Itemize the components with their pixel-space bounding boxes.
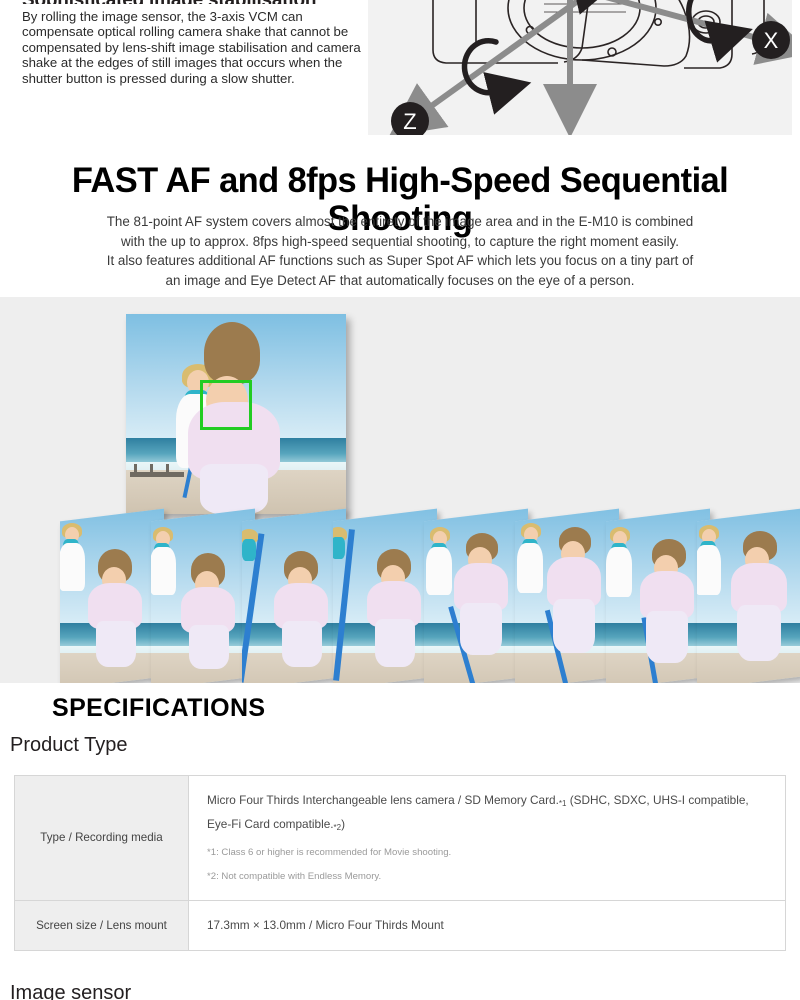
- spec-footnote: *2: Not compatible with Endless Memory.: [207, 868, 767, 886]
- burst-frame-photo: [697, 509, 800, 683]
- burst-frame: [333, 509, 437, 683]
- burst-frame-photo: [333, 509, 437, 683]
- burst-frame-photo: [515, 509, 619, 683]
- spec-value-suffix: ): [341, 817, 345, 831]
- burst-frame: [60, 509, 164, 683]
- is-body-text: By rolling the image sensor, the 3-axis …: [22, 9, 362, 86]
- burst-frame: [151, 509, 255, 683]
- gallery-inner: [0, 297, 800, 683]
- spec-value: Micro Four Thirds Interchangeable lens c…: [189, 776, 786, 901]
- af-desc-line: The 81-point AF system covers almost the…: [60, 212, 740, 232]
- spec-value-prefix: Micro Four Thirds Interchangeable lens c…: [207, 793, 559, 807]
- af-burst-gallery: [0, 297, 800, 683]
- photo-groyne: [134, 464, 137, 476]
- table-row: Type / Recording media Micro Four Thirds…: [15, 776, 786, 901]
- burst-frame-photo: [242, 509, 346, 683]
- burst-frame-photo: [606, 509, 710, 683]
- af-desc-line: It also features additional AF functions…: [60, 251, 740, 271]
- af-detection-frame: [200, 380, 252, 430]
- spec-value-text: 17.3mm × 13.0mm / Micro Four Thirds Moun…: [207, 915, 767, 936]
- spec-footnote: *1: Class 6 or higher is recommended for…: [207, 844, 767, 862]
- hero-photo: [126, 314, 346, 514]
- burst-sequence-strip: [60, 509, 800, 683]
- image-stabilisation-section: Sophisticated image stabilisation By rol…: [0, 0, 800, 152]
- is-heading: Sophisticated image stabilisation: [22, 0, 362, 4]
- photo-groyne: [166, 464, 169, 476]
- photo-girl-hair: [204, 322, 260, 384]
- svg-text:X: X: [764, 28, 779, 53]
- burst-frame: [606, 509, 710, 683]
- af-desc-line: with the up to approx. 8fps high-speed s…: [60, 232, 740, 252]
- burst-frame-photo: [424, 509, 528, 683]
- burst-frame: [424, 509, 528, 683]
- af-section-description: The 81-point AF system covers almost the…: [60, 212, 740, 290]
- af-desc-line: an image and Eye Detect AF that automati…: [60, 271, 740, 291]
- camera-axis-illustration: X Z: [368, 0, 792, 135]
- spec-label: Type / Recording media: [15, 776, 189, 901]
- photo-groyne: [150, 464, 153, 476]
- axis-badge-x: X: [752, 21, 790, 59]
- camera-3-axis-diagram: X Z: [368, 0, 792, 135]
- burst-frame-photo: [151, 509, 255, 683]
- specifications-title: SPECIFICATIONS: [52, 694, 266, 723]
- spec-footnote-marker-2: *2: [334, 823, 342, 832]
- burst-frame: [515, 509, 619, 683]
- specifications-table: Type / Recording media Micro Four Thirds…: [14, 775, 786, 951]
- burst-frame: [697, 509, 800, 683]
- is-text-block: Sophisticated image stabilisation By rol…: [22, 0, 362, 86]
- spec-label: Screen size / Lens mount: [15, 901, 189, 951]
- table-row: Screen size / Lens mount 17.3mm × 13.0mm…: [15, 901, 786, 951]
- photo-groyne: [130, 472, 184, 477]
- spec-section-heading: Product Type: [10, 734, 127, 757]
- burst-frame: [242, 509, 346, 683]
- spec-value: 17.3mm × 13.0mm / Micro Four Thirds Moun…: [189, 901, 786, 951]
- svg-text:Z: Z: [403, 109, 416, 134]
- spec-value-text: Micro Four Thirds Interchangeable lens c…: [207, 790, 767, 838]
- photo-girl-pants: [200, 464, 268, 514]
- burst-frame-photo: [60, 509, 164, 683]
- next-section-heading: Image sensor: [10, 982, 131, 1000]
- axis-badge-z: Z: [391, 102, 429, 135]
